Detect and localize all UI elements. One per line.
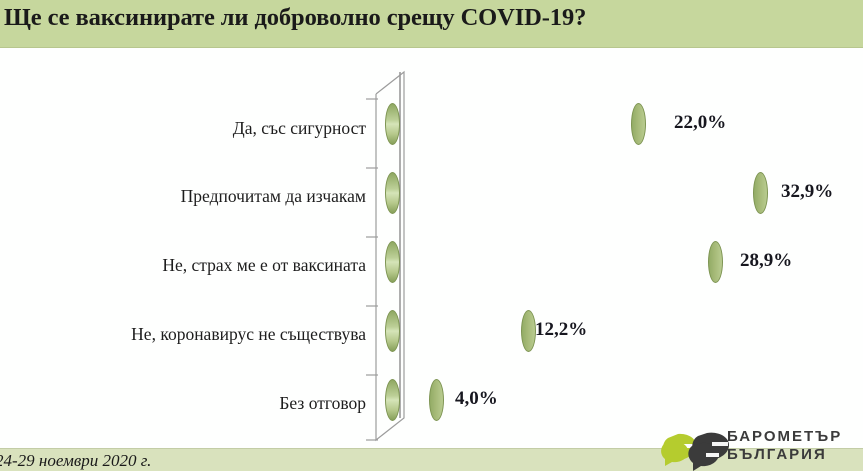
bar-3-end-cap — [521, 310, 536, 352]
bar-0-end-cap — [631, 103, 646, 145]
bar-4-left-cap — [385, 379, 400, 421]
bar-1[interactable] — [392, 173, 761, 213]
bar-2[interactable] — [392, 242, 716, 282]
value-label-4: 4,0% — [455, 388, 498, 410]
value-label-3: 12,2% — [535, 319, 587, 341]
chart-plot-area: Да, със сигурност Предпочитам да изчакам… — [0, 48, 863, 448]
value-label-0: 22,0% — [674, 112, 726, 134]
page-title: Ще се ваксинирате ли доброволно срещу CO… — [4, 3, 824, 33]
bar-1-end-cap — [753, 172, 768, 214]
bar-4[interactable] — [392, 380, 437, 420]
barometer-bulgaria-logo: БАРОМЕТЪР БЪЛГАРИЯ — [660, 424, 863, 471]
slide-canvas: Ще се ваксинирате ли доброволно срещу CO… — [0, 0, 863, 471]
survey-date-note: 24-29 ноември 2020 г. — [0, 451, 151, 471]
bar-2-left-cap — [385, 241, 400, 283]
bar-2-end-cap — [708, 241, 723, 283]
value-label-2: 28,9% — [740, 250, 792, 272]
value-label-1: 32,9% — [781, 181, 833, 203]
bar-4-end-cap — [429, 379, 444, 421]
header-band: Ще се ваксинирате ли доброволно срещу CO… — [0, 0, 863, 48]
bar-3-left-cap — [385, 310, 400, 352]
bar-3[interactable] — [392, 311, 529, 351]
logo-text-barometer: БАРОМЕТЪР — [727, 428, 842, 445]
bar-0-left-cap — [385, 103, 400, 145]
bar-1-left-cap — [385, 172, 400, 214]
bar-0[interactable] — [392, 104, 639, 144]
logo-text-bulgaria: БЪЛГАРИЯ — [727, 446, 827, 463]
chart-bars — [0, 48, 863, 448]
